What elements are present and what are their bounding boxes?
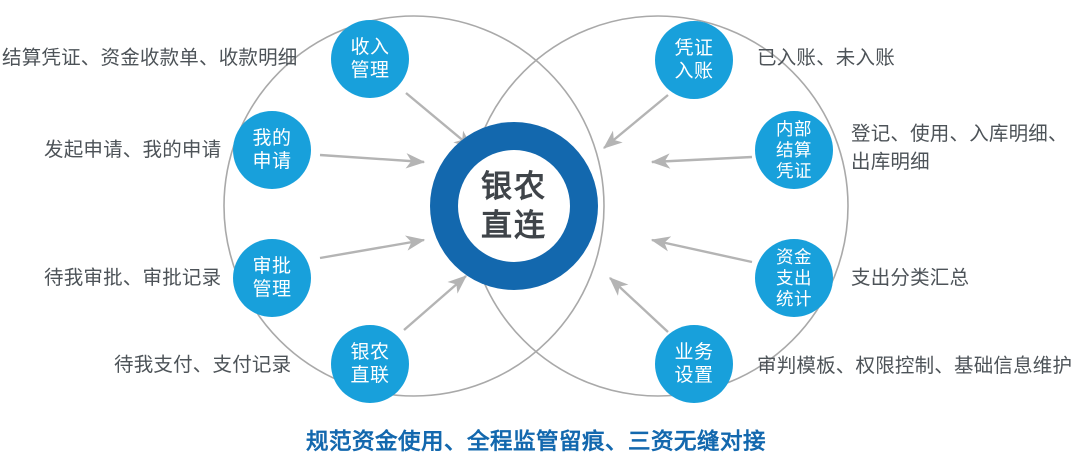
node-income-management-label: 收入 管理 [350,36,389,82]
node-approval-management[interactable]: 审批 管理 [233,239,311,317]
node-business-settings[interactable]: 业务 设置 [655,325,733,403]
node-voucher-entry[interactable]: 凭证 入账 [655,21,733,99]
center-hub-inner: 银农 直连 [458,150,570,262]
node-internal-settlement-voucher[interactable]: 内部 结算 凭证 [755,111,833,189]
node-bank-farmer-direct[interactable]: 银农 直联 [331,325,409,403]
diagram-caption: 规范资金使用、全程监管留痕、三资无缝对接 [0,424,1072,456]
label-internal-settlement-voucher-detail: 登记、使用、入库明细、 出库明细 [851,120,1072,176]
node-approval-management-label: 审批 管理 [252,255,291,301]
arrow-business-settings [610,278,668,332]
label-income-management-detail: 结算凭证、资金收款单、收款明细 [2,44,302,72]
center-hub-label: 银农 直连 [481,167,547,245]
node-fund-expenditure-statistics[interactable]: 资金 支出 统计 [755,239,833,317]
label-voucher-entry-detail: 已入账、未入账 [757,44,1017,72]
label-approval-management-detail: 待我审批、审批记录 [44,264,244,292]
diagram-canvas: 银农 直连 收入 管理 我的 申请 审批 管理 银农 直联 凭证 入账 内部 结… [0,0,1072,471]
arrow-fund-expenditure-statistics [652,240,752,262]
label-fund-expenditure-statistics-detail: 支出分类汇总 [851,264,1072,292]
arrow-approval-management [320,240,424,258]
arrow-my-application [320,155,424,162]
arrow-bank-farmer-direct [404,276,466,330]
node-my-application[interactable]: 我的 申请 [233,111,311,189]
label-bank-farmer-direct-detail: 待我支付、支付记录 [114,351,324,379]
arrow-voucher-entry [604,95,668,148]
node-business-settings-label: 业务 设置 [674,341,713,387]
node-bank-farmer-direct-label: 银农 直联 [350,341,389,387]
node-my-application-label: 我的 申请 [252,127,291,173]
center-hub: 银农 直连 [430,122,598,290]
label-my-application-detail: 发起申请、我的申请 [44,136,244,164]
arrow-internal-settlement-voucher [652,157,752,162]
label-business-settings-detail: 审判模板、权限控制、基础信息维护 [757,352,1072,380]
node-voucher-entry-label: 凭证 入账 [674,37,713,83]
node-fund-expenditure-statistics-label: 资金 支出 统计 [776,247,812,310]
node-internal-settlement-voucher-label: 内部 结算 凭证 [776,119,812,182]
node-income-management[interactable]: 收入 管理 [331,20,409,98]
